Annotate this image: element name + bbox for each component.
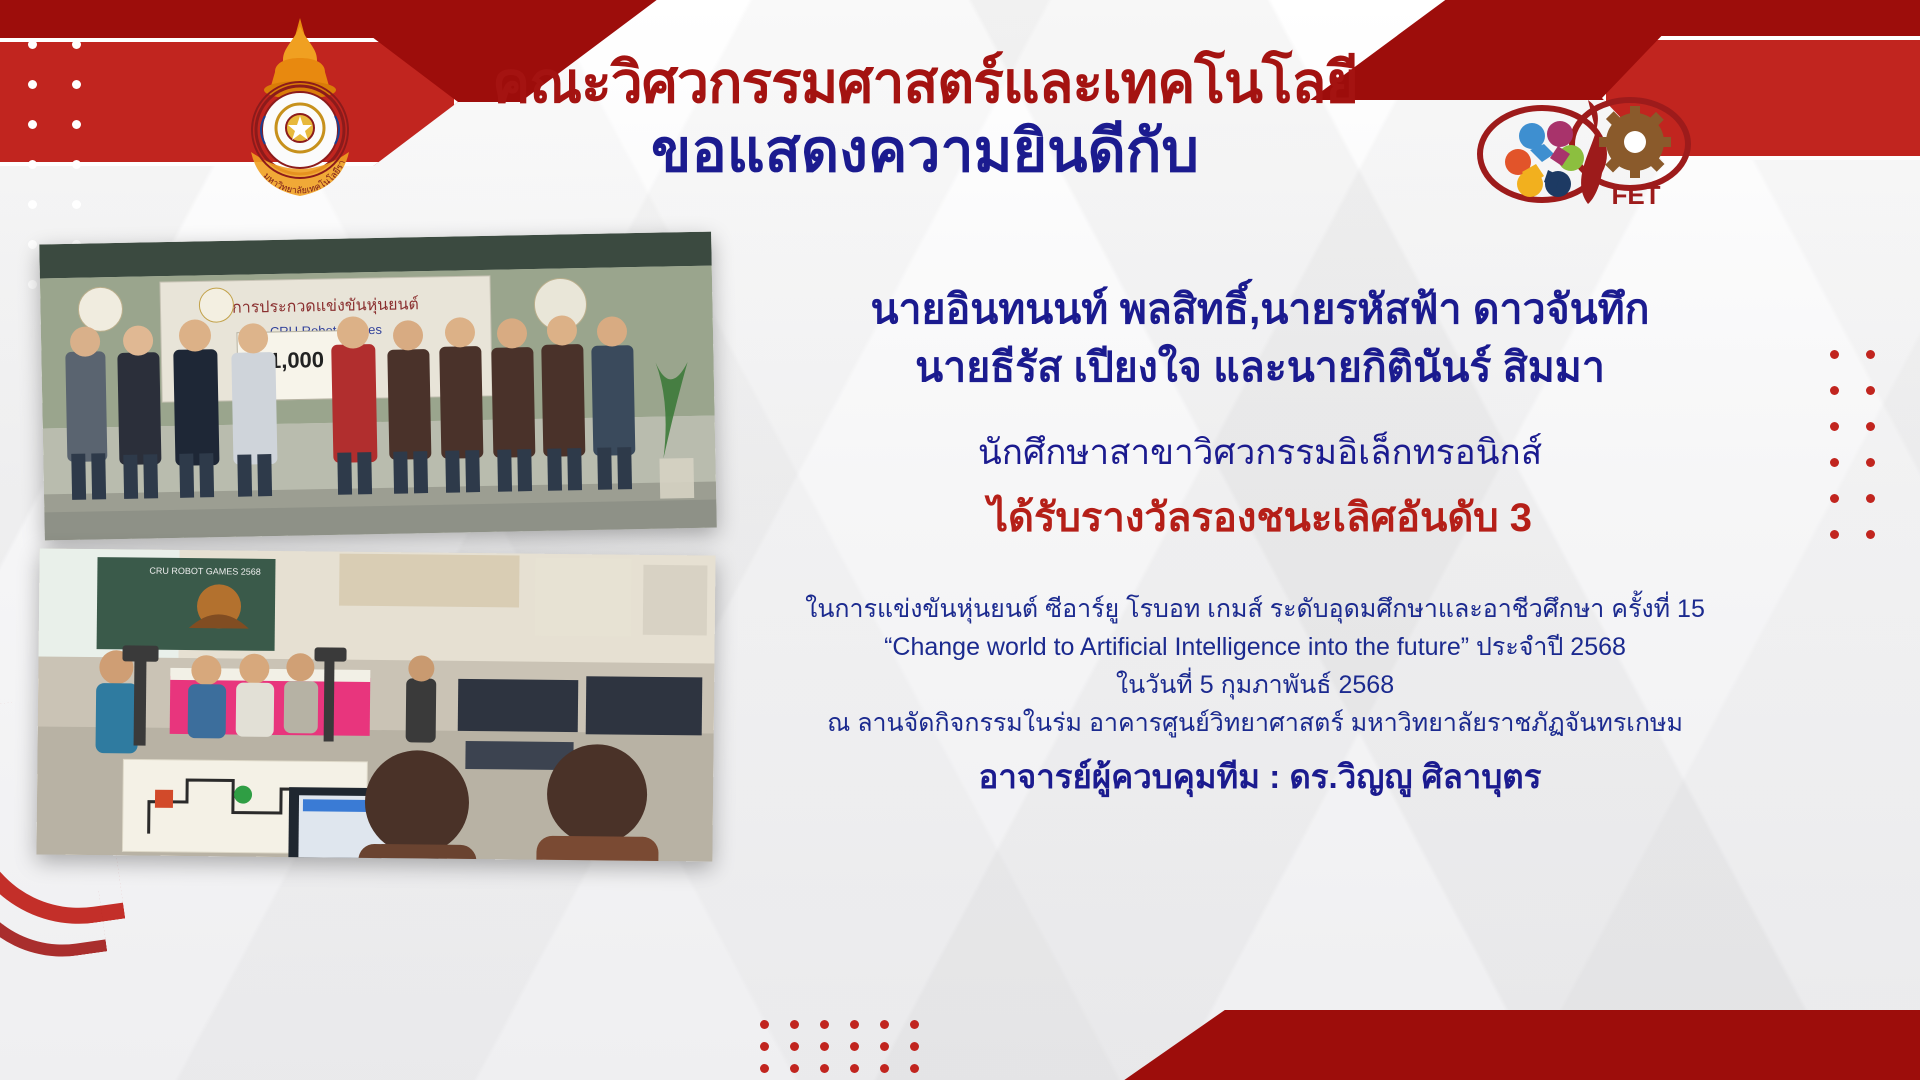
faculty-title: คณะวิศวกรรมศาสตร์และเทคโนโลยี [420,52,1430,116]
recipient-names: นายอินทนนท์ พลสิทธิ์,นายรหัสฟ้า ดาวจันทึ… [620,280,1900,396]
recipient-name-line-2: นายธีรัส เปียงใจ และนายกิตินันร์ สิมมา [620,338,1900,396]
recipient-name-line-1: นายอินทนนท์ พลสิทธิ์,นายรหัสฟ้า ดาวจันทึ… [620,280,1900,338]
award-title: ได้รับรางวัลรองชนะเลิศอันดับ 3 [620,492,1900,544]
fet-logo-label: FET [1611,180,1660,210]
award-ceremony-photo: การประกวดแข่งขันหุ่นยนต์ CRU Robot Games… [39,232,717,541]
rmuti-seal: มหาวิทยาลัยเทคโนโลยีราชมงคลอีสาน [205,12,395,227]
congratulation-poster: มหาวิทยาลัยเทคโนโลยีราชมงคลอีสาน คณะวิศว… [0,0,1920,1080]
event-detail-line-3: ในวันที่ 5 กุมภาพันธ์ 2568 [600,666,1910,704]
advisor-line: อาจารย์ผู้ควบคุมทีม : ดร.วิญญู ศิลาบุตร [620,750,1900,803]
event-details: ในการแข่งขันหุ่นยนต์ ซีอาร์ยู โรบอท เกมส… [600,590,1910,742]
event-detail-line-4: ณ ลานจัดกิจกรรมในร่ม อาคารศูนย์วิทยาศาสต… [600,704,1910,742]
fet-logo: FET [1470,92,1700,217]
bottom-dot-grid [760,1020,940,1076]
poster-header: คณะวิศวกรรมศาสตร์และเทคโนโลยี ขอแสดงความ… [420,52,1430,186]
bottom-right-dark-banner [1110,1010,1920,1080]
svg-text:1,000: 1,000 [269,347,325,373]
recipient-major: นักศึกษาสาขาวิศวกรรมอิเล็กทรอนิกส์ [620,430,1900,476]
event-detail-line-1: ในการแข่งขันหุ่นยนต์ ซีอาร์ยู โรบอท เกมส… [600,590,1910,628]
event-detail-line-2: “Change world to Artificial Intelligence… [600,628,1910,666]
congratulations-title: ขอแสดงความยินดีกับ [420,118,1430,186]
svg-text:CRU ROBOT GAMES 2568: CRU ROBOT GAMES 2568 [149,566,260,577]
